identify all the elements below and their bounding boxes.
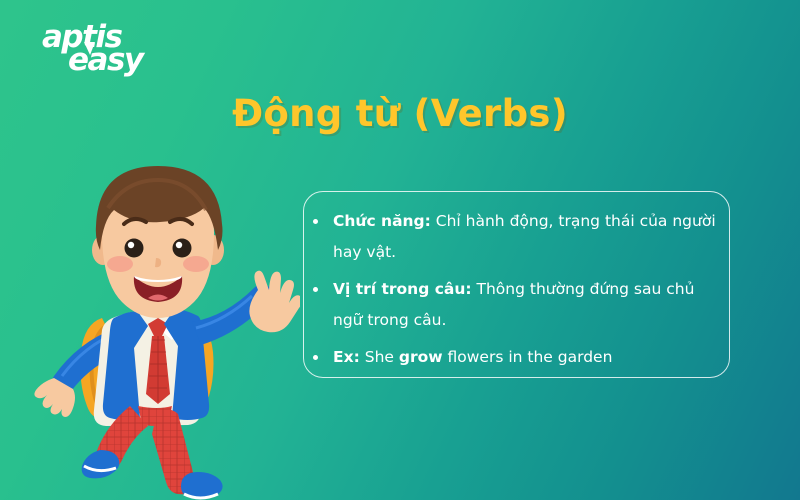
- bullet-label: Chức năng:: [333, 212, 431, 230]
- page-title: Động từ (Verbs): [0, 92, 800, 135]
- schoolboy-waving-illustration: [30, 150, 300, 500]
- brand-logo[interactable]: aptis easy: [38, 22, 158, 84]
- bullet-list: Chức năng: Chỉ hành động, trạng thái của…: [308, 206, 728, 379]
- bullet-text-after: flowers in the garden: [443, 348, 613, 366]
- list-item: Chức năng: Chỉ hành động, trạng thái của…: [308, 206, 728, 268]
- bullet-text-before: She: [360, 348, 399, 366]
- waving-hand-shape: [249, 271, 300, 333]
- slide-canvas: aptis easy Động từ (Verbs): [0, 0, 800, 500]
- bullet-emphasis: grow: [399, 348, 443, 366]
- bullet-label: Ex:: [333, 348, 360, 366]
- bullet-dot-icon: [313, 355, 318, 360]
- shoes-shape: [82, 450, 223, 499]
- bullet-dot-icon: [313, 219, 318, 224]
- bullet-dot-icon: [313, 287, 318, 292]
- list-item: Ex: She grow flowers in the garden: [308, 342, 728, 373]
- bullet-label: Vị trí trong câu:: [333, 280, 472, 298]
- brand-logo-line2: easy: [68, 45, 143, 76]
- head-shape: [92, 166, 224, 318]
- list-item: Vị trí trong câu: Thông thường đứng sau …: [308, 274, 728, 336]
- right-arm-waving-shape: [192, 271, 300, 345]
